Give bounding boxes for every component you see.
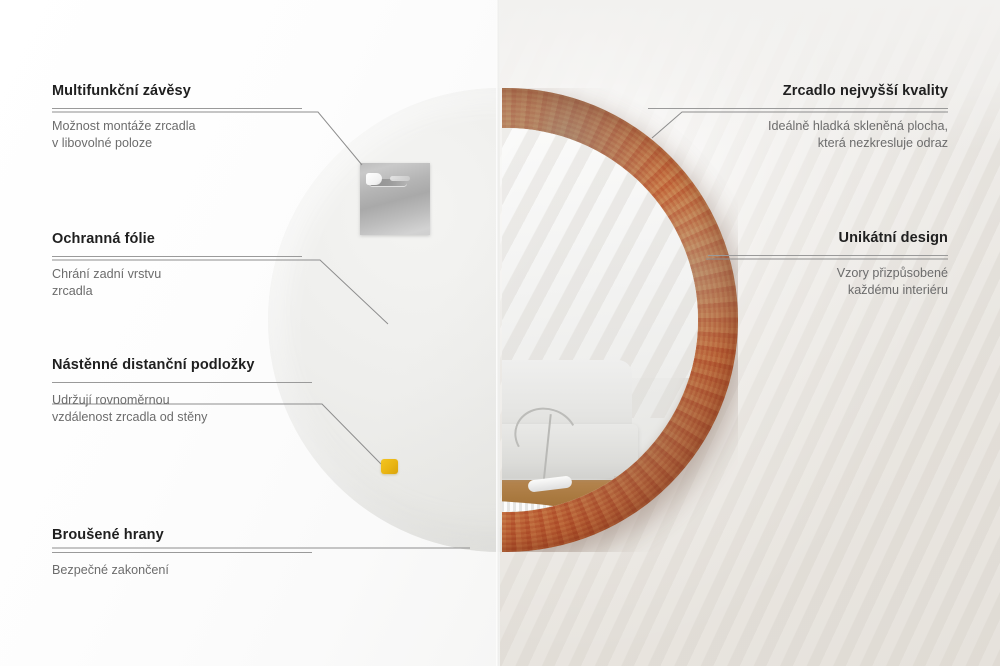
callout-body: Ideálně hladká skleněná plocha, která ne… <box>648 118 948 154</box>
callout-multifunctional-hangers: Multifunkční závěsy Možnost montáže zrca… <box>52 82 302 153</box>
infographic-canvas: Multifunkční závěsy Možnost montáže zrca… <box>0 0 1000 666</box>
callout-title: Nástěnné distanční podložky <box>52 356 312 375</box>
callout-rule <box>648 108 948 109</box>
callout-body-line: Možnost montáže zrcadla <box>52 119 196 133</box>
callout-body-line: každému interiéru <box>848 283 948 297</box>
callout-rule <box>52 256 302 257</box>
callout-rule <box>52 382 312 383</box>
callout-body: Chrání zadní vrstvu zrcadla <box>52 266 302 302</box>
callout-title: Multifunkční závěsy <box>52 82 302 101</box>
callout-body: Bezpečné zakončení <box>52 562 312 580</box>
callout-body-line: Udržují rovnoměrnou <box>52 393 170 407</box>
callout-title: Broušené hrany <box>52 526 312 545</box>
hanger-highlight <box>366 173 382 185</box>
round-mirror <box>502 88 738 552</box>
callout-body-line: zrcadla <box>52 284 93 298</box>
hanger-plate <box>360 163 430 235</box>
callout-body-line: vzdálenost zrcadla od stěny <box>52 410 207 424</box>
callout-unique-design: Unikátní design Vzory přizpůsobené každé… <box>708 229 948 300</box>
callout-top-quality-mirror: Zrcadlo nejvyšší kvality Ideálně hladká … <box>648 82 948 153</box>
callout-rule <box>52 552 312 553</box>
callout-body-line: Vzory přizpůsobené <box>837 266 948 280</box>
callout-body: Vzory přizpůsobené každému interiéru <box>708 265 948 301</box>
mirror-frame <box>502 88 738 552</box>
callout-wall-spacers: Nástěnné distanční podložky Udržují rovn… <box>52 356 312 427</box>
callout-rule <box>708 255 948 256</box>
callout-title: Unikátní design <box>708 229 948 248</box>
callout-body: Udržují rovnoměrnou vzdálenost zrcadla o… <box>52 392 312 428</box>
yellow-spacer-pad <box>381 459 398 474</box>
callout-protective-foil: Ochranná fólie Chrání zadní vrstvu zrcad… <box>52 230 302 301</box>
callout-body: Možnost montáže zrcadla v libovolné polo… <box>52 118 302 154</box>
callout-body-line: která nezkresluje odraz <box>818 136 948 150</box>
callout-body-line: Ideálně hladká skleněná plocha, <box>768 119 948 133</box>
reflected-sofa-leg <box>614 476 621 490</box>
callout-title: Ochranná fólie <box>52 230 302 249</box>
callout-rule <box>52 108 302 109</box>
callout-body-line: Bezpečné zakončení <box>52 563 169 577</box>
hanger-highlight-secondary <box>390 176 410 181</box>
callout-body-line: Chrání zadní vrstvu <box>52 267 161 281</box>
callout-title: Zrcadlo nejvyšší kvality <box>648 82 948 101</box>
callout-ground-edges: Broušené hrany Bezpečné zakončení <box>52 526 312 579</box>
callout-body-line: v libovolné poloze <box>52 136 152 150</box>
